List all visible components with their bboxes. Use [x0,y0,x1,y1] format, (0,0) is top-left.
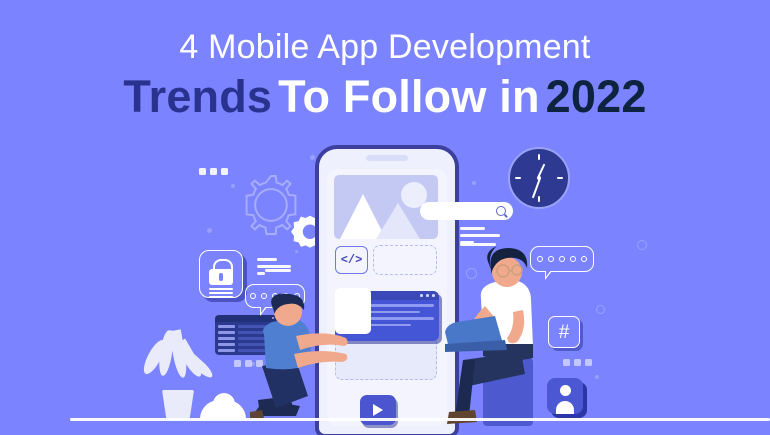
phone-notch [366,155,408,161]
search-bar[interactable] [420,202,513,220]
three-squares-decor [199,168,228,175]
headline-line-2: TrendsTo Follow in2022 [0,67,770,124]
person-kneeling-left [250,288,370,428]
gear-icon [238,172,304,238]
headline-word-trends: Trends [123,71,272,122]
banner-image: 4 Mobile App Development TrendsTo Follow… [0,0,770,435]
headline-word-tofollowin: To Follow in [278,71,540,122]
dashed-placeholder [373,245,437,275]
headline-word-year: 2022 [546,71,647,122]
mountain-shape [376,203,420,239]
decor-dot [207,228,212,233]
decor-ring [596,305,605,314]
decor-dot [595,375,599,379]
search-icon [496,206,506,216]
lock-body [209,269,233,285]
text-lines-decor [265,269,291,276]
floor-line [70,418,770,421]
decor-ring [637,240,647,250]
lock-lines [209,288,233,299]
wall-clock [508,147,570,209]
headline-block: 4 Mobile App Development TrendsTo Follow… [0,0,770,124]
lock-icon [199,250,243,298]
headline-line-1: 4 Mobile App Development [0,0,770,67]
window-text-lines [369,304,434,330]
decor-dot [472,181,476,185]
code-icon: </> [335,246,368,274]
person-sitting-laptop-right [445,240,575,430]
cloud-decor [213,393,235,415]
decor-dot [310,155,315,160]
decor-dot [231,184,235,188]
plant-pot [162,390,194,420]
